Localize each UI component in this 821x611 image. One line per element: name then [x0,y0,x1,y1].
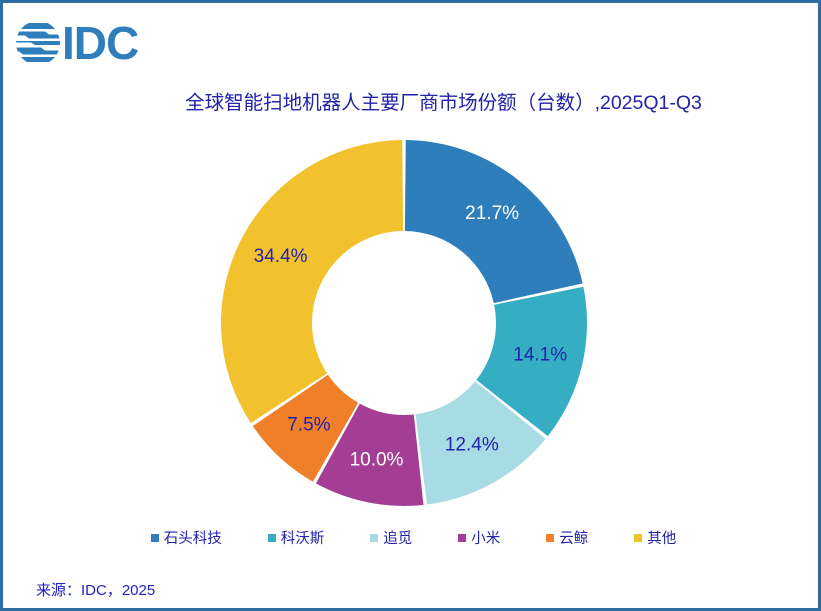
legend-item-label: 云鲸 [559,527,588,548]
donut-chart: 21.7%14.1%12.4%10.0%7.5%34.4% [3,3,821,533]
legend-swatch-icon [370,534,378,542]
legend-item[interactable]: 小米 [458,527,500,548]
source-note: 来源：IDC，2025 [36,579,155,600]
chart-canvas: IDC 全球智能扫地机器人主要厂商市场份额（台数）,2025Q1-Q3 21.7… [0,0,821,611]
legend-swatch-icon [546,534,554,542]
slice-value-label: 14.1% [513,344,567,365]
donut-slice[interactable] [221,140,403,423]
legend-item[interactable]: 科沃斯 [268,527,325,548]
legend-item-label: 科沃斯 [281,527,325,548]
legend-swatch-icon [458,534,466,542]
slice-value-label: 12.4% [445,435,499,456]
chart-legend: 石头科技科沃斯追觅小米云鲸其他 [3,527,821,548]
legend-item[interactable]: 石头科技 [151,527,222,548]
donut-chart-svg: 21.7%14.1%12.4%10.0%7.5%34.4% [3,3,821,533]
legend-item-label: 追觅 [383,527,412,548]
slice-value-label: 34.4% [254,246,308,267]
legend-swatch-icon [634,534,642,542]
legend-item[interactable]: 云鲸 [546,527,588,548]
legend-item[interactable]: 追觅 [370,527,412,548]
slice-value-label: 10.0% [350,449,404,470]
legend-item[interactable]: 其他 [634,527,676,548]
legend-swatch-icon [268,534,276,542]
legend-swatch-icon [151,534,159,542]
legend-item-label: 石头科技 [164,527,222,548]
legend-item-label: 其他 [647,527,676,548]
legend-item-label: 小米 [471,527,500,548]
slices-group [221,140,587,506]
slice-value-label: 21.7% [465,203,519,224]
slice-value-label: 7.5% [287,415,330,436]
